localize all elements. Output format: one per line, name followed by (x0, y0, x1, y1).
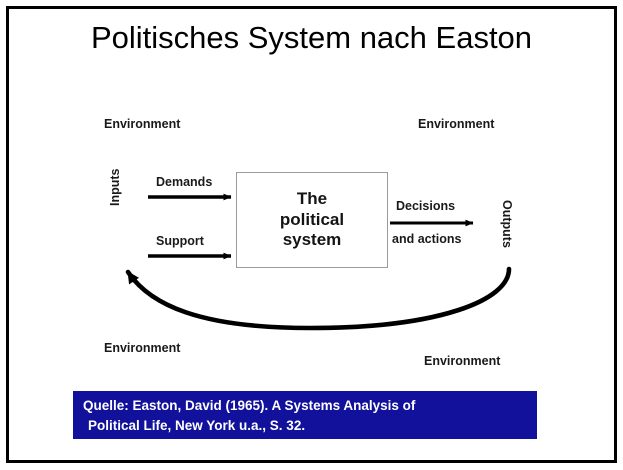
outputs-axis-label: Outputs (500, 200, 514, 248)
environment-label-top-left: Environment (104, 117, 180, 131)
political-system-box-label: The political system (280, 189, 344, 251)
environment-label-top-right: Environment (418, 117, 494, 131)
slide: Politisches System nach Easton (0, 0, 623, 470)
demands-label: Demands (156, 175, 212, 189)
environment-label-bottom-left: Environment (104, 341, 180, 355)
political-system-line-2: political (280, 210, 344, 231)
and-actions-label: and actions (392, 232, 461, 246)
decisions-label: Decisions (396, 199, 455, 213)
political-system-box: The political system (236, 172, 388, 268)
support-label: Support (156, 234, 204, 248)
citation-line-1: Quelle: Easton, David (1965). A Systems … (83, 396, 537, 416)
environment-label-bottom-right: Environment (424, 354, 500, 368)
feedback-loop-arrow (128, 269, 509, 328)
citation-line-2: Political Life, New York u.a., S. 32. (83, 416, 537, 436)
source-citation-box: Quelle: Easton, David (1965). A Systems … (73, 391, 537, 439)
political-system-line-3: system (280, 230, 344, 251)
inputs-axis-label: Inputs (108, 169, 122, 207)
political-system-line-1: The (280, 189, 344, 210)
